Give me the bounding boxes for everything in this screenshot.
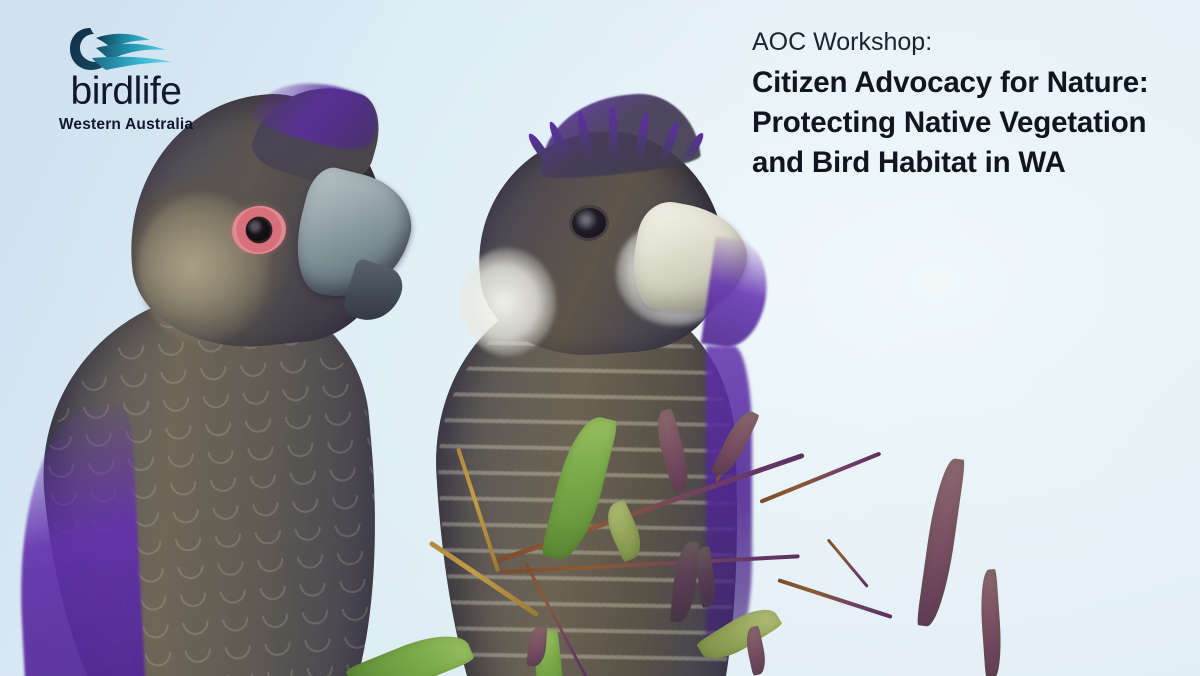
leaf-dark-middle bbox=[670, 540, 700, 624]
branch-stem-main bbox=[491, 453, 805, 565]
leaf-olive-right bbox=[696, 599, 783, 669]
leaf-long-right bbox=[916, 456, 965, 628]
workshop-headline: Citizen Advocacy for Nature: Protecting … bbox=[752, 63, 1196, 183]
branch-stem-lower bbox=[500, 554, 800, 574]
birdlife-logo[interactable]: birdlife Western Australia bbox=[36, 22, 216, 138]
right-cockatoo-crest-feathers bbox=[540, 92, 710, 162]
branch-twig-a bbox=[827, 538, 869, 587]
right-cockatoo-cheek-patch-left bbox=[460, 248, 556, 356]
branch-stem-gold-upper bbox=[456, 447, 500, 572]
workshop-eyebrow: AOC Workshop: bbox=[752, 26, 1196, 59]
birdlife-wordmark: birdlife bbox=[36, 72, 216, 111]
leaf-long-far-right bbox=[978, 569, 1004, 676]
eucalyptus-branch bbox=[430, 420, 1200, 676]
left-cockatoo-wing-edge bbox=[11, 405, 149, 676]
branch-stem-upper-right bbox=[759, 451, 881, 503]
left-cockatoo-eye bbox=[246, 219, 270, 241]
leaf-plum-upper bbox=[651, 408, 695, 493]
branch-stem-right-low bbox=[777, 578, 892, 618]
birdlife-tagline: Western Australia bbox=[36, 117, 216, 133]
leaf-green-large bbox=[540, 411, 618, 565]
banner-text-block: AOC Workshop: Citizen Advocacy for Natur… bbox=[752, 26, 1196, 183]
birdlife-bird-wave-mark-icon bbox=[66, 22, 178, 74]
leaf-dark-middle-b bbox=[694, 546, 718, 608]
aoc-workshop-banner: birdlife Western Australia AOC Workshop:… bbox=[0, 0, 1200, 676]
left-cockatoo-female bbox=[10, 78, 440, 676]
